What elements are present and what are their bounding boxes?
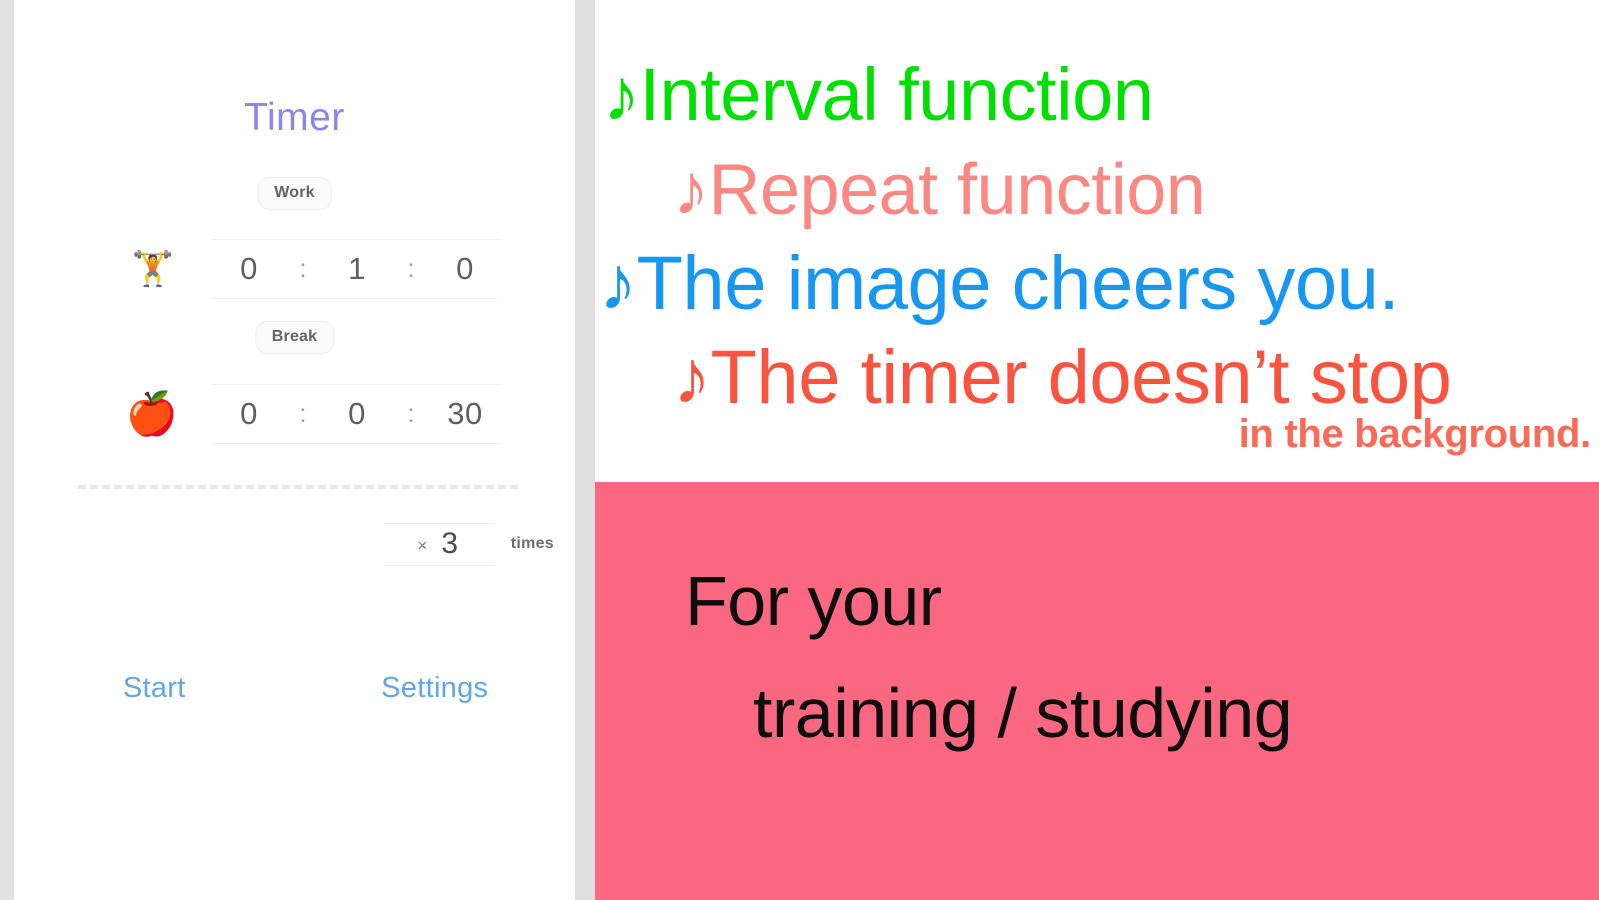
tagline-block: For your training / studying [595,482,1599,900]
break-colon-2: : [394,385,428,443]
work-minutes-input[interactable]: 1 [320,240,394,298]
music-note-icon-3: ♪ [599,241,637,326]
work-time-row: 🏋 0 : 1 : 0 [14,240,575,298]
feature-background-label: The timer doesn’t stop [711,335,1452,420]
break-colon-1: : [286,385,320,443]
repeat-count-row: × 3 times [14,516,575,572]
work-time-fields[interactable]: 0 : 1 : 0 [212,239,502,299]
work-hours-input[interactable]: 0 [212,240,286,298]
feature-image-label: The image cheers you. [637,241,1400,326]
feature-repeat: ♪Repeat function [595,154,1599,226]
panel-divider [575,0,595,900]
dashed-divider [78,485,518,489]
break-minutes-input[interactable]: 0 [320,385,394,443]
promo-panel: ♪Interval function ♪Repeat function ♪The… [595,0,1599,900]
feature-list: ♪Interval function ♪Repeat function ♪The… [595,0,1599,482]
timer-app-panel: Timer Work 🏋 0 : 1 : 0 Break 🍎 0 : 0 : 3… [14,0,575,900]
left-edge-strip [0,0,14,900]
page-title: Timer [14,98,575,137]
action-bar: Start Settings [14,672,575,705]
work-colon-1: : [286,240,320,298]
music-note-icon-4: ♪ [673,335,711,420]
barbell-icon: 🏋 [106,240,198,298]
tagline-line-2: training / studying [595,678,1599,748]
break-phase-label: Break [256,322,333,353]
tagline-line-1: For your [595,566,1599,636]
break-seconds-input[interactable]: 30 [428,385,502,443]
feature-interval: ♪Interval function [595,58,1599,132]
start-button[interactable]: Start [14,672,295,705]
work-seconds-input[interactable]: 0 [428,240,502,298]
break-hours-input[interactable]: 0 [212,385,286,443]
repeat-unit-label: times [511,535,554,553]
work-colon-2: : [394,240,428,298]
feature-image: ♪The image cheers you. [595,246,1599,322]
music-note-icon-1: ♪ [603,53,640,136]
feature-background: ♪The timer doesn’t stop [595,340,1599,416]
repeat-count-input[interactable]: 3 [441,529,458,559]
feature-repeat-label: Repeat function [709,150,1206,230]
feature-interval-label: Interval function [640,53,1154,136]
break-time-row: 🍎 0 : 0 : 30 [14,385,575,443]
settings-button[interactable]: Settings [295,672,576,705]
break-time-fields[interactable]: 0 : 0 : 30 [212,384,502,444]
apple-icon: 🍎 [106,385,198,443]
repeat-count-field[interactable]: × 3 [383,523,495,566]
music-note-icon-2: ♪ [673,150,709,230]
screenshot-root: Timer Work 🏋 0 : 1 : 0 Break 🍎 0 : 0 : 3… [0,0,1599,900]
work-phase-label: Work [258,178,331,209]
multiply-symbol: × [417,537,427,554]
